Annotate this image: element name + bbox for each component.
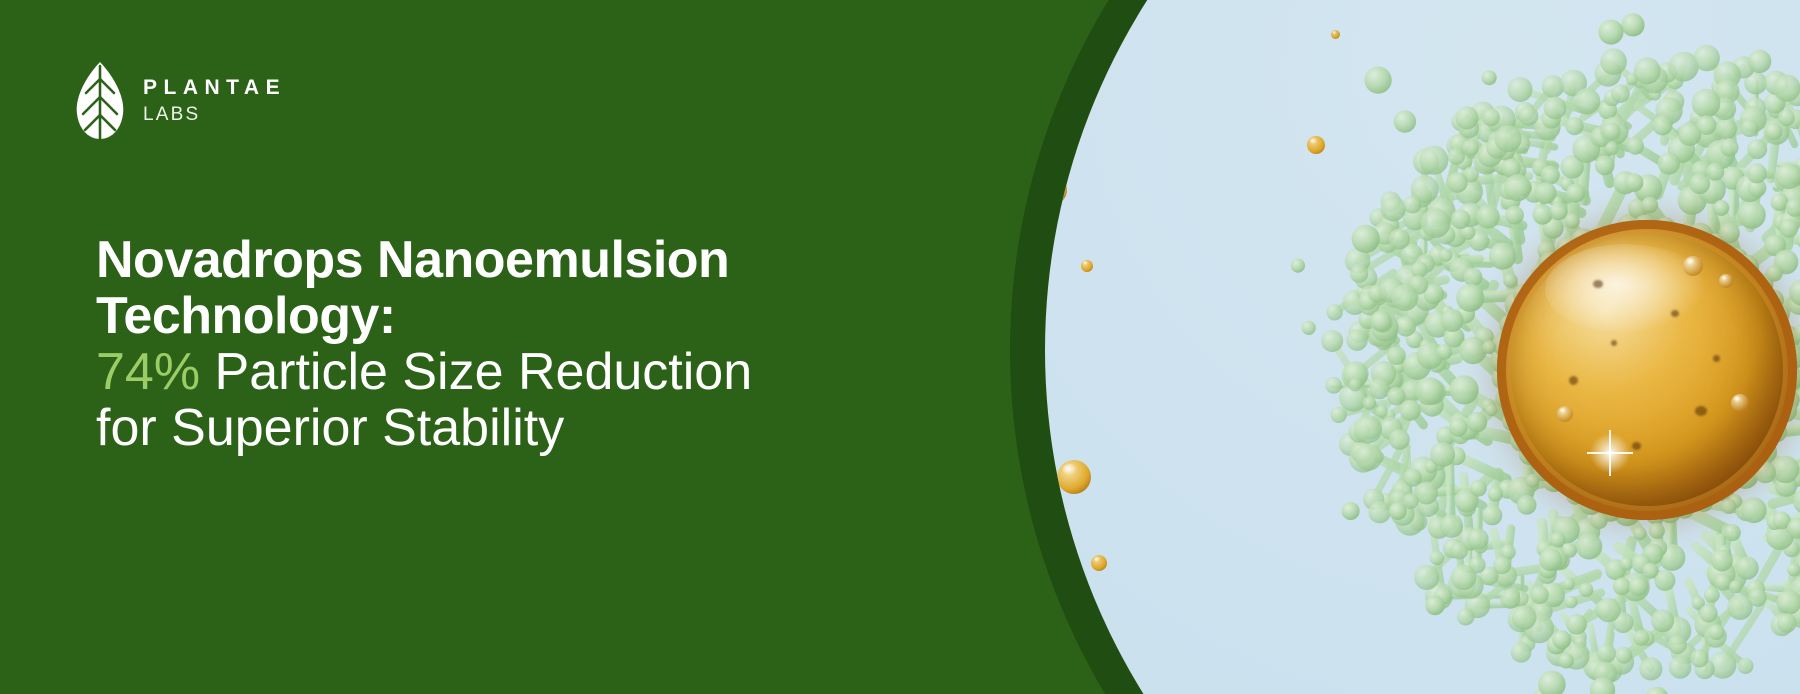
- nanoemulsion-illustration: [1045, 0, 1800, 694]
- oil-droplet: [1307, 136, 1325, 154]
- banner-stage: PLANTAE LABS Novadrops Nanoemulsion Tech…: [0, 0, 1800, 694]
- oil-droplet: [1091, 555, 1107, 571]
- oil-droplet: [1125, 0, 1141, 16]
- brand-logo[interactable]: PLANTAE LABS: [75, 60, 286, 140]
- highlight-sparkle: [1587, 430, 1633, 476]
- brand-name-primary: PLANTAE: [143, 77, 286, 98]
- oil-droplet: [1081, 260, 1093, 272]
- stat-percentage: 74%: [96, 343, 200, 401]
- oil-core-sphere: [1497, 220, 1797, 520]
- oil-droplet: [1057, 460, 1091, 494]
- inner-bubble: [1719, 274, 1733, 288]
- headline-line-3-rest: Particle Size Reduction: [200, 343, 752, 401]
- leaf-icon: [75, 60, 125, 140]
- inner-bubble: [1683, 256, 1703, 276]
- headline-line-1: Novadrops Nanoemulsion: [96, 232, 916, 288]
- oil-droplet: [1331, 30, 1340, 39]
- brand-name-secondary: LABS: [143, 105, 286, 124]
- headline-line-2: Technology:: [96, 288, 916, 344]
- headline-line-4: for Superior Stability: [96, 400, 916, 456]
- inner-bubble: [1557, 406, 1573, 422]
- headline-line-3: 74% Particle Size Reduction: [96, 344, 916, 400]
- headline-block: Novadrops Nanoemulsion Technology: 74% P…: [96, 232, 916, 457]
- inner-bubble: [1731, 394, 1749, 412]
